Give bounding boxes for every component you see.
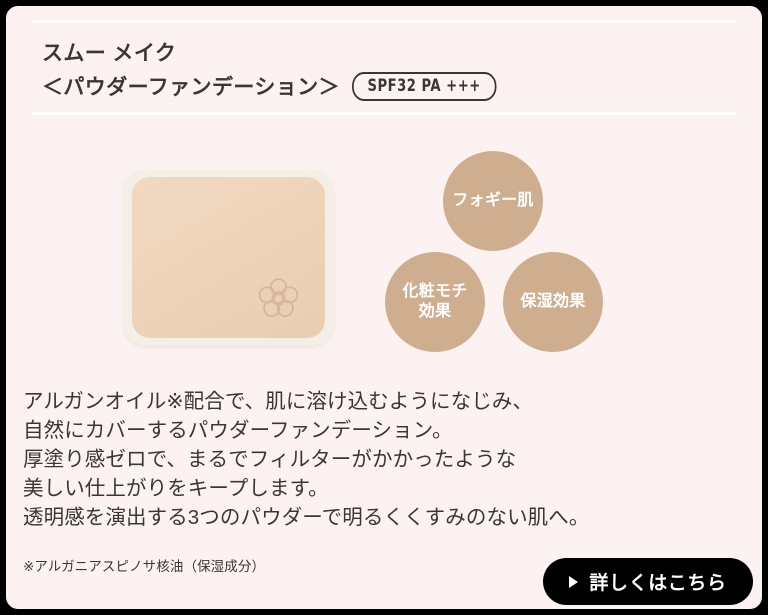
benefit-badge-moisturizing: 保湿効果 (503, 252, 603, 352)
details-button[interactable]: 詳しくはこちら (543, 558, 753, 605)
product-description: アルガンオイル※配合で、肌に溶け込むようになじみ、 自然にカバーするパウダーファ… (23, 387, 589, 532)
benefit-badge-foggy-skin: フォギー肌 (443, 151, 543, 251)
product-image-compact (123, 169, 334, 346)
product-card: スムー メイク ＜パウダーファンデーション＞ SPF32 PA +++ フォギー… (0, 0, 768, 615)
divider-header (32, 112, 736, 115)
benefit-label: 化粧モチ効果 (402, 282, 467, 323)
details-button-label: 詳しくはこちら (589, 568, 726, 595)
description-line: 厚塗り感ゼロで、まるでフィルターがかかったような (23, 445, 589, 474)
benefit-label: フォギー肌 (452, 191, 534, 211)
subtitle-row: ＜パウダーファンデーション＞ SPF32 PA +++ (42, 71, 520, 101)
description-line: 自然にカバーするパウダーファンデーション。 (23, 416, 589, 445)
divider-top (32, 20, 736, 23)
description-line: 透明感を演出する3つのパウダーで明るくくすみのない肌へ。 (23, 503, 589, 532)
footnote-text: ※アルガニアスピノサ核油（保湿成分） (23, 555, 265, 575)
benefit-label: 保湿効果 (520, 292, 585, 312)
powder-surface (132, 177, 325, 338)
description-line: 美しい仕上がりをキープします。 (23, 474, 589, 503)
spf-badge: SPF32 PA +++ (352, 72, 496, 101)
benefit-badge-makeup-longevity: 化粧モチ効果 (385, 252, 485, 352)
flower-icon (256, 276, 301, 321)
play-triangle-icon (569, 576, 578, 588)
page-title: スムー メイク (42, 37, 176, 67)
product-type-label: ＜パウダーファンデーション＞ (42, 71, 340, 101)
card-header: スムー メイク ＜パウダーファンデーション＞ SPF32 PA +++ (6, 26, 762, 110)
description-line: アルガンオイル※配合で、肌に溶け込むようになじみ、 (23, 387, 589, 416)
